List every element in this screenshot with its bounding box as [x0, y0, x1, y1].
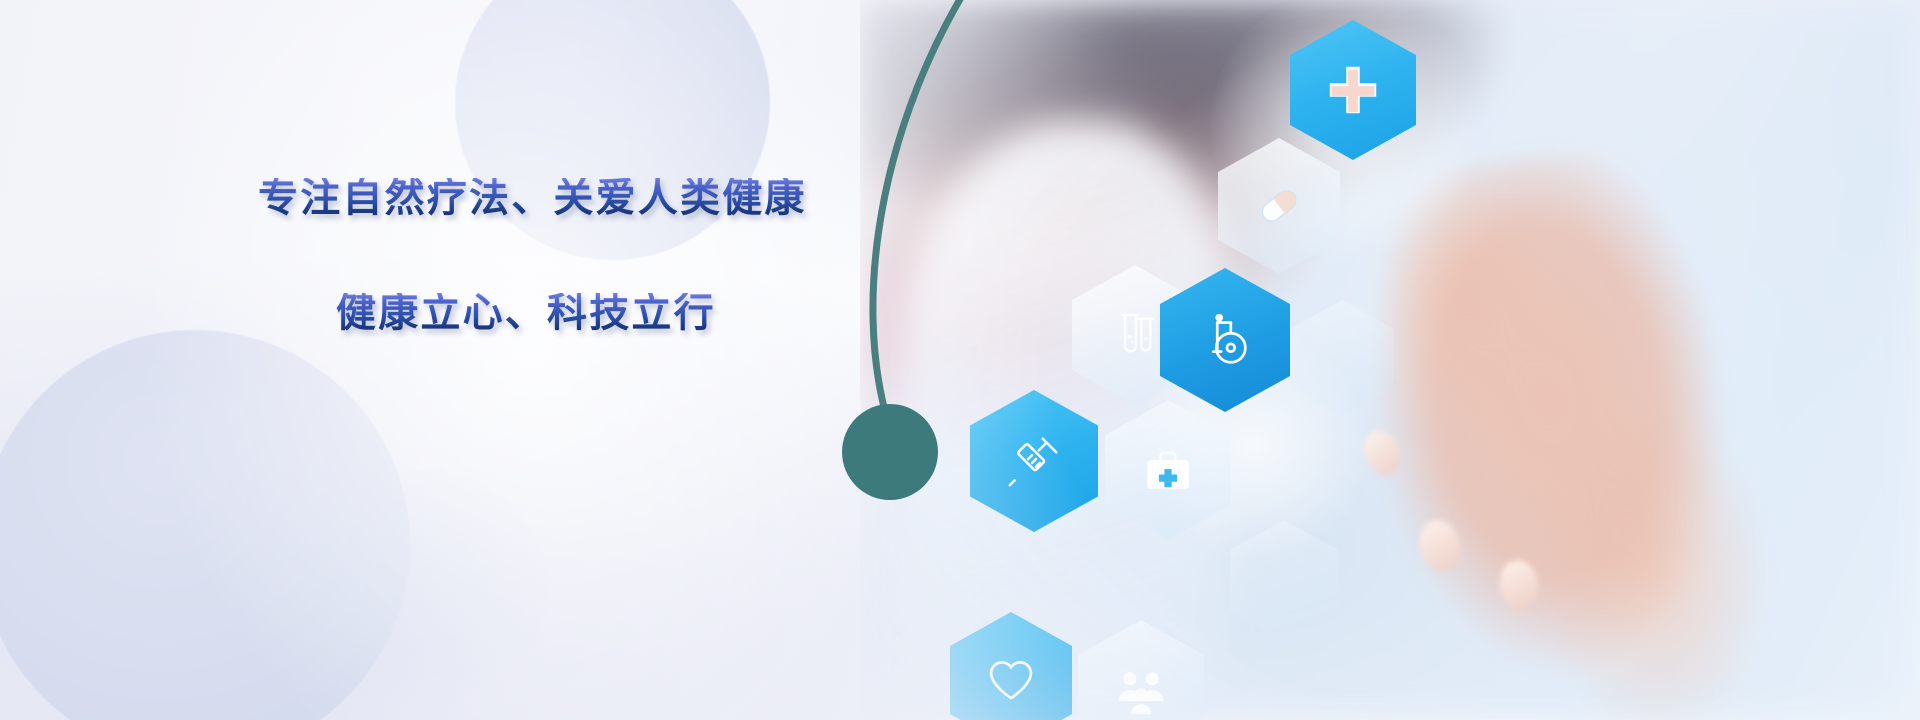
hex-tile-first-aid-kit[interactable]	[1105, 400, 1231, 540]
hex-icon-cluster	[860, 0, 1920, 720]
people-icon	[1111, 660, 1171, 720]
hex-tile-heart-care[interactable]	[950, 612, 1072, 720]
hex-tile-wheelchair[interactable]	[1160, 268, 1290, 412]
decor-circle-faint	[300, 470, 550, 720]
cross-icon	[1322, 59, 1384, 121]
hex-tile-syringe[interactable]	[970, 390, 1098, 532]
capsule-icon	[1249, 176, 1309, 236]
hero-banner: 专注自然疗法、关爱人类健康 健康立心、科技立行	[0, 0, 1920, 720]
wheelchair-icon	[1194, 309, 1256, 371]
headline-block: 专注自然疗法、关爱人类健康 健康立心、科技立行	[258, 178, 878, 333]
headline-line-1: 专注自然疗法、关爱人类健康	[258, 178, 878, 218]
briefcase-medical-icon	[1139, 441, 1197, 499]
hex-tile-accent	[1230, 520, 1338, 640]
headline-line-2: 健康立心、科技立行	[336, 293, 878, 333]
hex-tile-medical-cross[interactable]	[1290, 20, 1416, 160]
syringe-icon	[1003, 430, 1065, 492]
hex-tile-capsule[interactable]	[1218, 138, 1340, 274]
hex-tile-family-group[interactable]	[1078, 620, 1204, 720]
heart-icon	[982, 651, 1040, 709]
test-tube-icon	[1106, 306, 1164, 364]
medical-professional-photo	[860, 0, 1920, 720]
hex-tile-accent	[1290, 300, 1394, 416]
